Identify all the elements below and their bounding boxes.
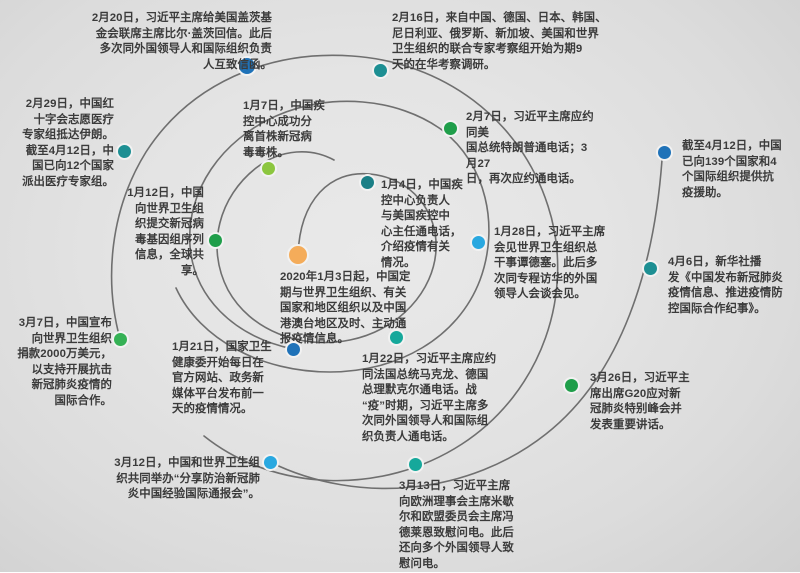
timeline-dot-jan21[interactable] [285, 341, 302, 358]
timeline-note-mar13: 3月13日，习近平主席 向欧洲理事会主席米歇 尔和欧盟委员会主席冯 德莱恩致慰问… [399, 479, 539, 573]
timeline-note-jan28: 1月28日，习近平主席 会见世界卫生组织总 干事谭德塞。此后多 次同专程访华的外… [494, 225, 618, 303]
timeline-dot-mar7[interactable] [112, 331, 129, 348]
timeline-dot-jan12[interactable] [207, 232, 224, 249]
timeline-dot-apr12[interactable] [656, 144, 673, 161]
timeline-dot-jan4[interactable] [359, 174, 376, 191]
timeline-dot-jan3[interactable] [287, 244, 309, 266]
timeline-note-jan12: 1月12日，中国 向世界卫生组 织提交新冠病 毒基因组序列 信息，全球共 享。 [58, 186, 204, 280]
timeline-infographic: 2020年1月3日起，中国定 期与世界卫生组织、有关 国家和地区组织以及中国 港… [0, 0, 800, 572]
timeline-note-feb7: 2月7日，习近平主席应约同美 国总统特朗普通电话；3月27 日，再次应约通电话。 [466, 110, 596, 188]
timeline-dot-feb16[interactable] [372, 62, 389, 79]
timeline-note-mar7: 3月7日，中国宣布 向世界卫生组织 捐款2000万美元， 以支持开展抗击 新冠肺… [0, 316, 112, 410]
timeline-note-jan4: 1月4日，中国疾 控中心负责人 与美国疾控中 心主任通电话， 介绍疫情有关 情况… [381, 178, 497, 272]
timeline-dot-jan7[interactable] [260, 160, 277, 177]
timeline-note-feb16: 2月16日，来自中国、德国、日本、韩国、 尼日利亚、俄罗斯、新加坡、美国和世界 … [392, 11, 632, 73]
timeline-note-mar12: 3月12日，中国和世界卫生组 织共同举办“分享防治新冠肺 炎中国经验国际通报会”… [92, 456, 260, 503]
timeline-dot-apr6[interactable] [642, 260, 659, 277]
timeline-dot-mar13[interactable] [407, 456, 424, 473]
timeline-note-jan7: 1月7日，中国疾 控中心成功分 离首株新冠病 毒毒株。 [243, 99, 355, 161]
timeline-note-jan22: 1月22日，习近平主席应约 同法国总统马克龙、德国 总理默克尔通电话。战 “疫”… [362, 352, 514, 446]
timeline-dot-mar26[interactable] [563, 377, 580, 394]
timeline-dot-jan22[interactable] [388, 329, 405, 346]
timeline-note-jan21: 1月21日，国家卫生 健康委开始每日在 官方网站、政务新 媒体平台发布前一 天的… [172, 340, 284, 418]
timeline-dot-jan28[interactable] [470, 234, 487, 251]
timeline-note-mar26: 3月26日，习近平主 席出席G20应对新 冠肺炎特别峰会并 发表重要讲话。 [590, 371, 722, 433]
timeline-dot-feb29[interactable] [116, 143, 133, 160]
timeline-note-apr6: 4月6日，新华社播 发《中国发布新冠肺炎 疫情信息、推进疫情防 控国际合作纪事》… [668, 255, 796, 317]
timeline-note-feb20: 2月20日，习近平主席给美国盖茨基 金会联席主席比尔·盖茨回信。此后 多次同外国… [72, 11, 272, 73]
timeline-note-jan3: 2020年1月3日起，中国定 期与世界卫生组织、有关 国家和地区组织以及中国 港… [280, 270, 430, 348]
timeline-dot-feb7[interactable] [442, 120, 459, 137]
timeline-note-feb29: 2月29日，中国红 十字会志愿医疗 专家组抵达伊朗。 截至4月12日，中 国已向… [0, 97, 114, 191]
timeline-dot-mar12[interactable] [262, 454, 279, 471]
timeline-note-apr12: 截至4月12日，中国 已向139个国家和4 个国际组织提供抗 疫援助。 [682, 139, 800, 201]
